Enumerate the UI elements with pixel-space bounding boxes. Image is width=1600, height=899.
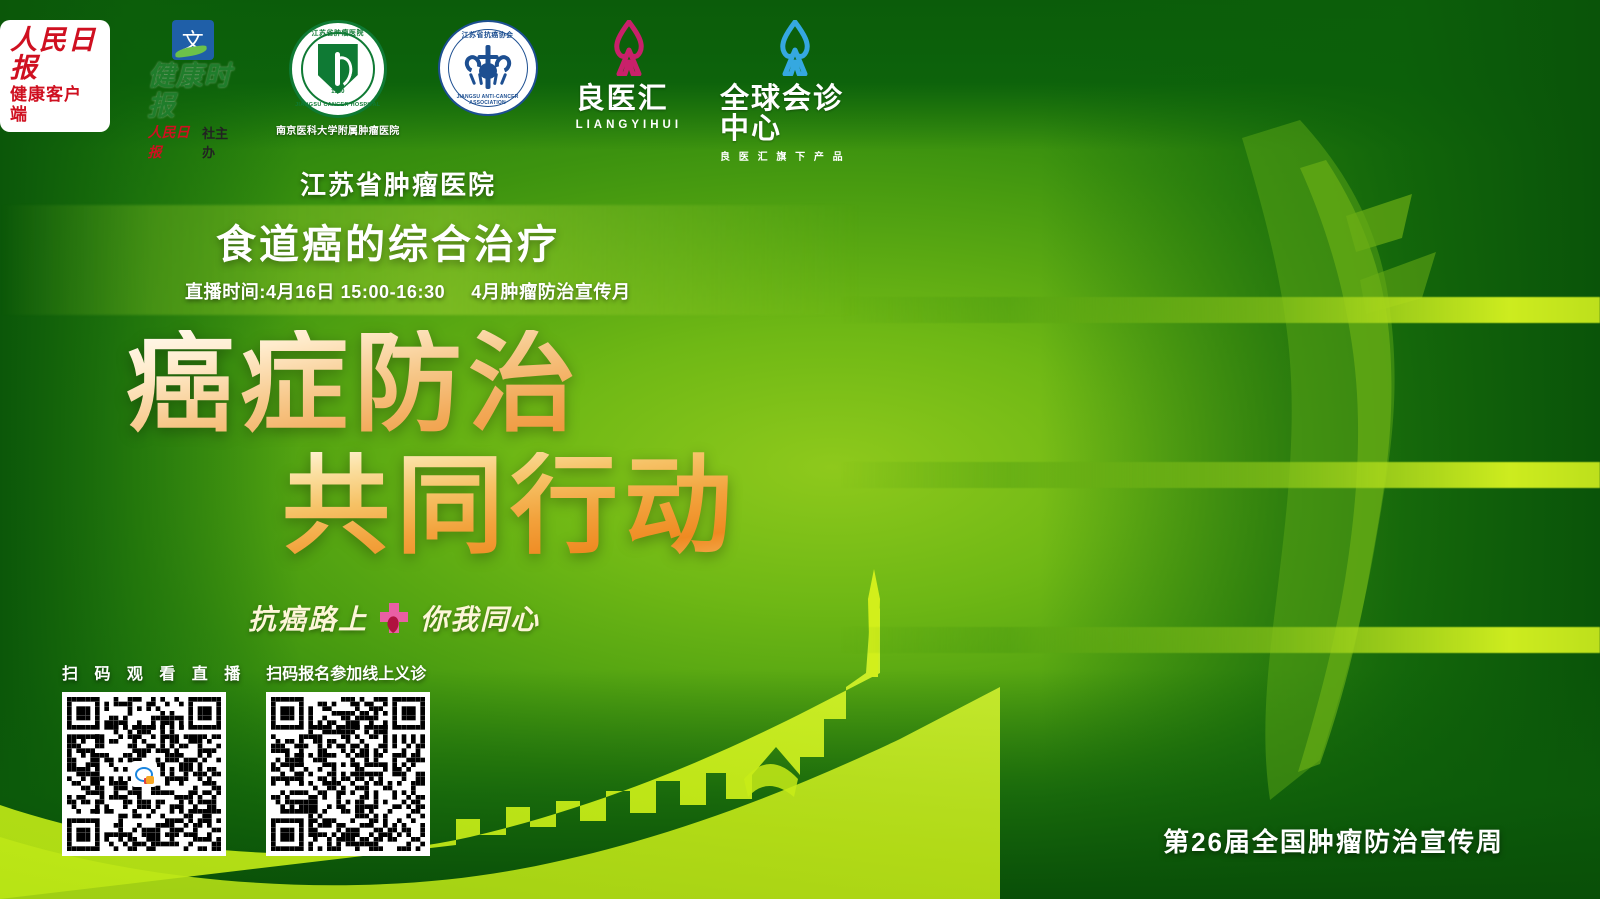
hospital-caption: 南京医科大学附属肿瘤医院 [276,122,400,137]
logo-global-consultation-center: 全球会诊中心 良 医 汇 旗 下 产 品 [720,20,870,163]
awareness-ribbon-icon [610,20,648,76]
pink-cross-ribbon-icon [376,601,412,635]
qq-bubble-icon [131,761,157,787]
crest-bottom-text: JIANGSU CANCER HOSPITAL [292,102,384,108]
qr-label-watch-live: 扫 码 观 看 直 播 [62,660,246,684]
rmrb-title: 人民日报 [10,26,100,83]
hospital-name: 江苏省肿瘤医院 [300,165,496,202]
watch-live-qr[interactable] [62,692,226,856]
association-oval-icon: 江苏省抗癌协会 JIANGSU ANTI-CANCER ASSOCIATION [438,20,538,116]
slogan-tagline: 抗癌路上 你我同心 [248,598,540,638]
slogan-line-2: 共同行动 [282,452,810,560]
tagline-right-text: 你我同心 [420,598,540,638]
tagline-left-text: 抗癌路上 [248,598,368,638]
poster-canvas: 人民日报 健康客户端 文 健康时报 人民日报 社主办 江苏省肿瘤医院 J S C… [0,0,1600,899]
campaign-week-footer: 第26届全国肿瘤防治宣传周 [1163,822,1504,859]
liangyihui-title: 良医汇 [576,85,682,115]
logo-liangyihui: 良医汇 LIANGYIHUI [576,20,682,131]
logo-jiangsu-anti-cancer-association: 江苏省抗癌协会 JIANGSU ANTI-CANCER ASSOCIATION [438,20,538,116]
rmrb-subtitle: 健康客户端 [10,85,100,126]
speaker-card: 曹国春 主任医师，江苏省肿瘤医院内科病区主任 中国临床肿瘤学会（CSCO）食管癌… [840,317,1600,482]
speaker-card: 张勤 主任医师，江苏省肿瘤医院副院长 江苏省抗癌协会理事，江苏省医师协会理事 [840,152,1600,317]
qr-code-section: 扫 码 观 看 直 播 扫码报名参加线上义诊 [62,660,430,856]
crab-sword-icon [465,51,511,85]
liangyihui-subtitle: LIANGYIHUI [576,119,682,131]
main-slogan: 癌症防治 共同行动 [120,330,810,560]
speaker-card: 徐新宇 主任医师，江苏省肿瘤医院副院长 江苏省抗癌协会理事，江苏省医师协会理事 [840,647,1600,812]
health-times-sub-red: 人民日报 [148,122,199,162]
health-times-mark-icon: 文 [172,20,214,60]
oval-bottom-text: JIANGSU ANTI-CANCER ASSOCIATION [440,94,536,106]
logo-peoples-daily-health-client: 人民日报 健康客户端 [0,20,110,132]
hospital-crest-icon: 江苏省肿瘤医院 J S C H 1960 JIANGSU CANCER HOSP… [289,20,387,118]
signup-clinic-qr[interactable] [266,692,430,856]
speaker-list: 张勤 主任医师，江苏省肿瘤医院副院长 江苏省抗癌协会理事，江苏省医师协会理事 曹… [840,152,1600,812]
qr-block-watch-live: 扫 码 观 看 直 播 [62,660,246,856]
health-times-sub: 人民日报 社主办 [148,122,238,162]
crest-year: 1960 [292,89,384,95]
health-times-title: 健康时报 [148,62,238,121]
slogan-line-1: 癌症防治 [126,330,810,438]
global-center-title: 全球会诊中心 [720,85,870,144]
partner-logo-bar: 人民日报 健康客户端 文 健康时报 人民日报 社主办 江苏省肿瘤医院 J S C… [0,20,870,145]
awareness-ribbon-blue-icon [776,20,814,76]
health-times-sub-black: 社主办 [202,123,238,161]
logo-jiangsu-cancer-hospital: 江苏省肿瘤医院 J S C H 1960 JIANGSU CANCER HOSP… [276,20,400,137]
speaker-card: 董珉 江苏省肿瘤医院影像中心主任医师 江苏省医学会放射学分会心胸乳腺学组委员 [840,482,1600,647]
qr-block-signup-clinic: 扫码报名参加线上义诊 [266,660,430,856]
campaign-month: 4月肿瘤防治宣传月 [471,278,630,304]
live-time: 直播时间:4月16日 15:00-16:30 [185,278,445,304]
logo-health-times: 文 健康时报 人民日报 社主办 [148,20,238,162]
live-info-row: 直播时间:4月16日 15:00-16:30 4月肿瘤防治宣传月 [185,278,631,304]
lecture-topic: 食道癌的综合治疗 [216,212,560,270]
qr-label-signup-clinic: 扫码报名参加线上义诊 [266,660,426,684]
